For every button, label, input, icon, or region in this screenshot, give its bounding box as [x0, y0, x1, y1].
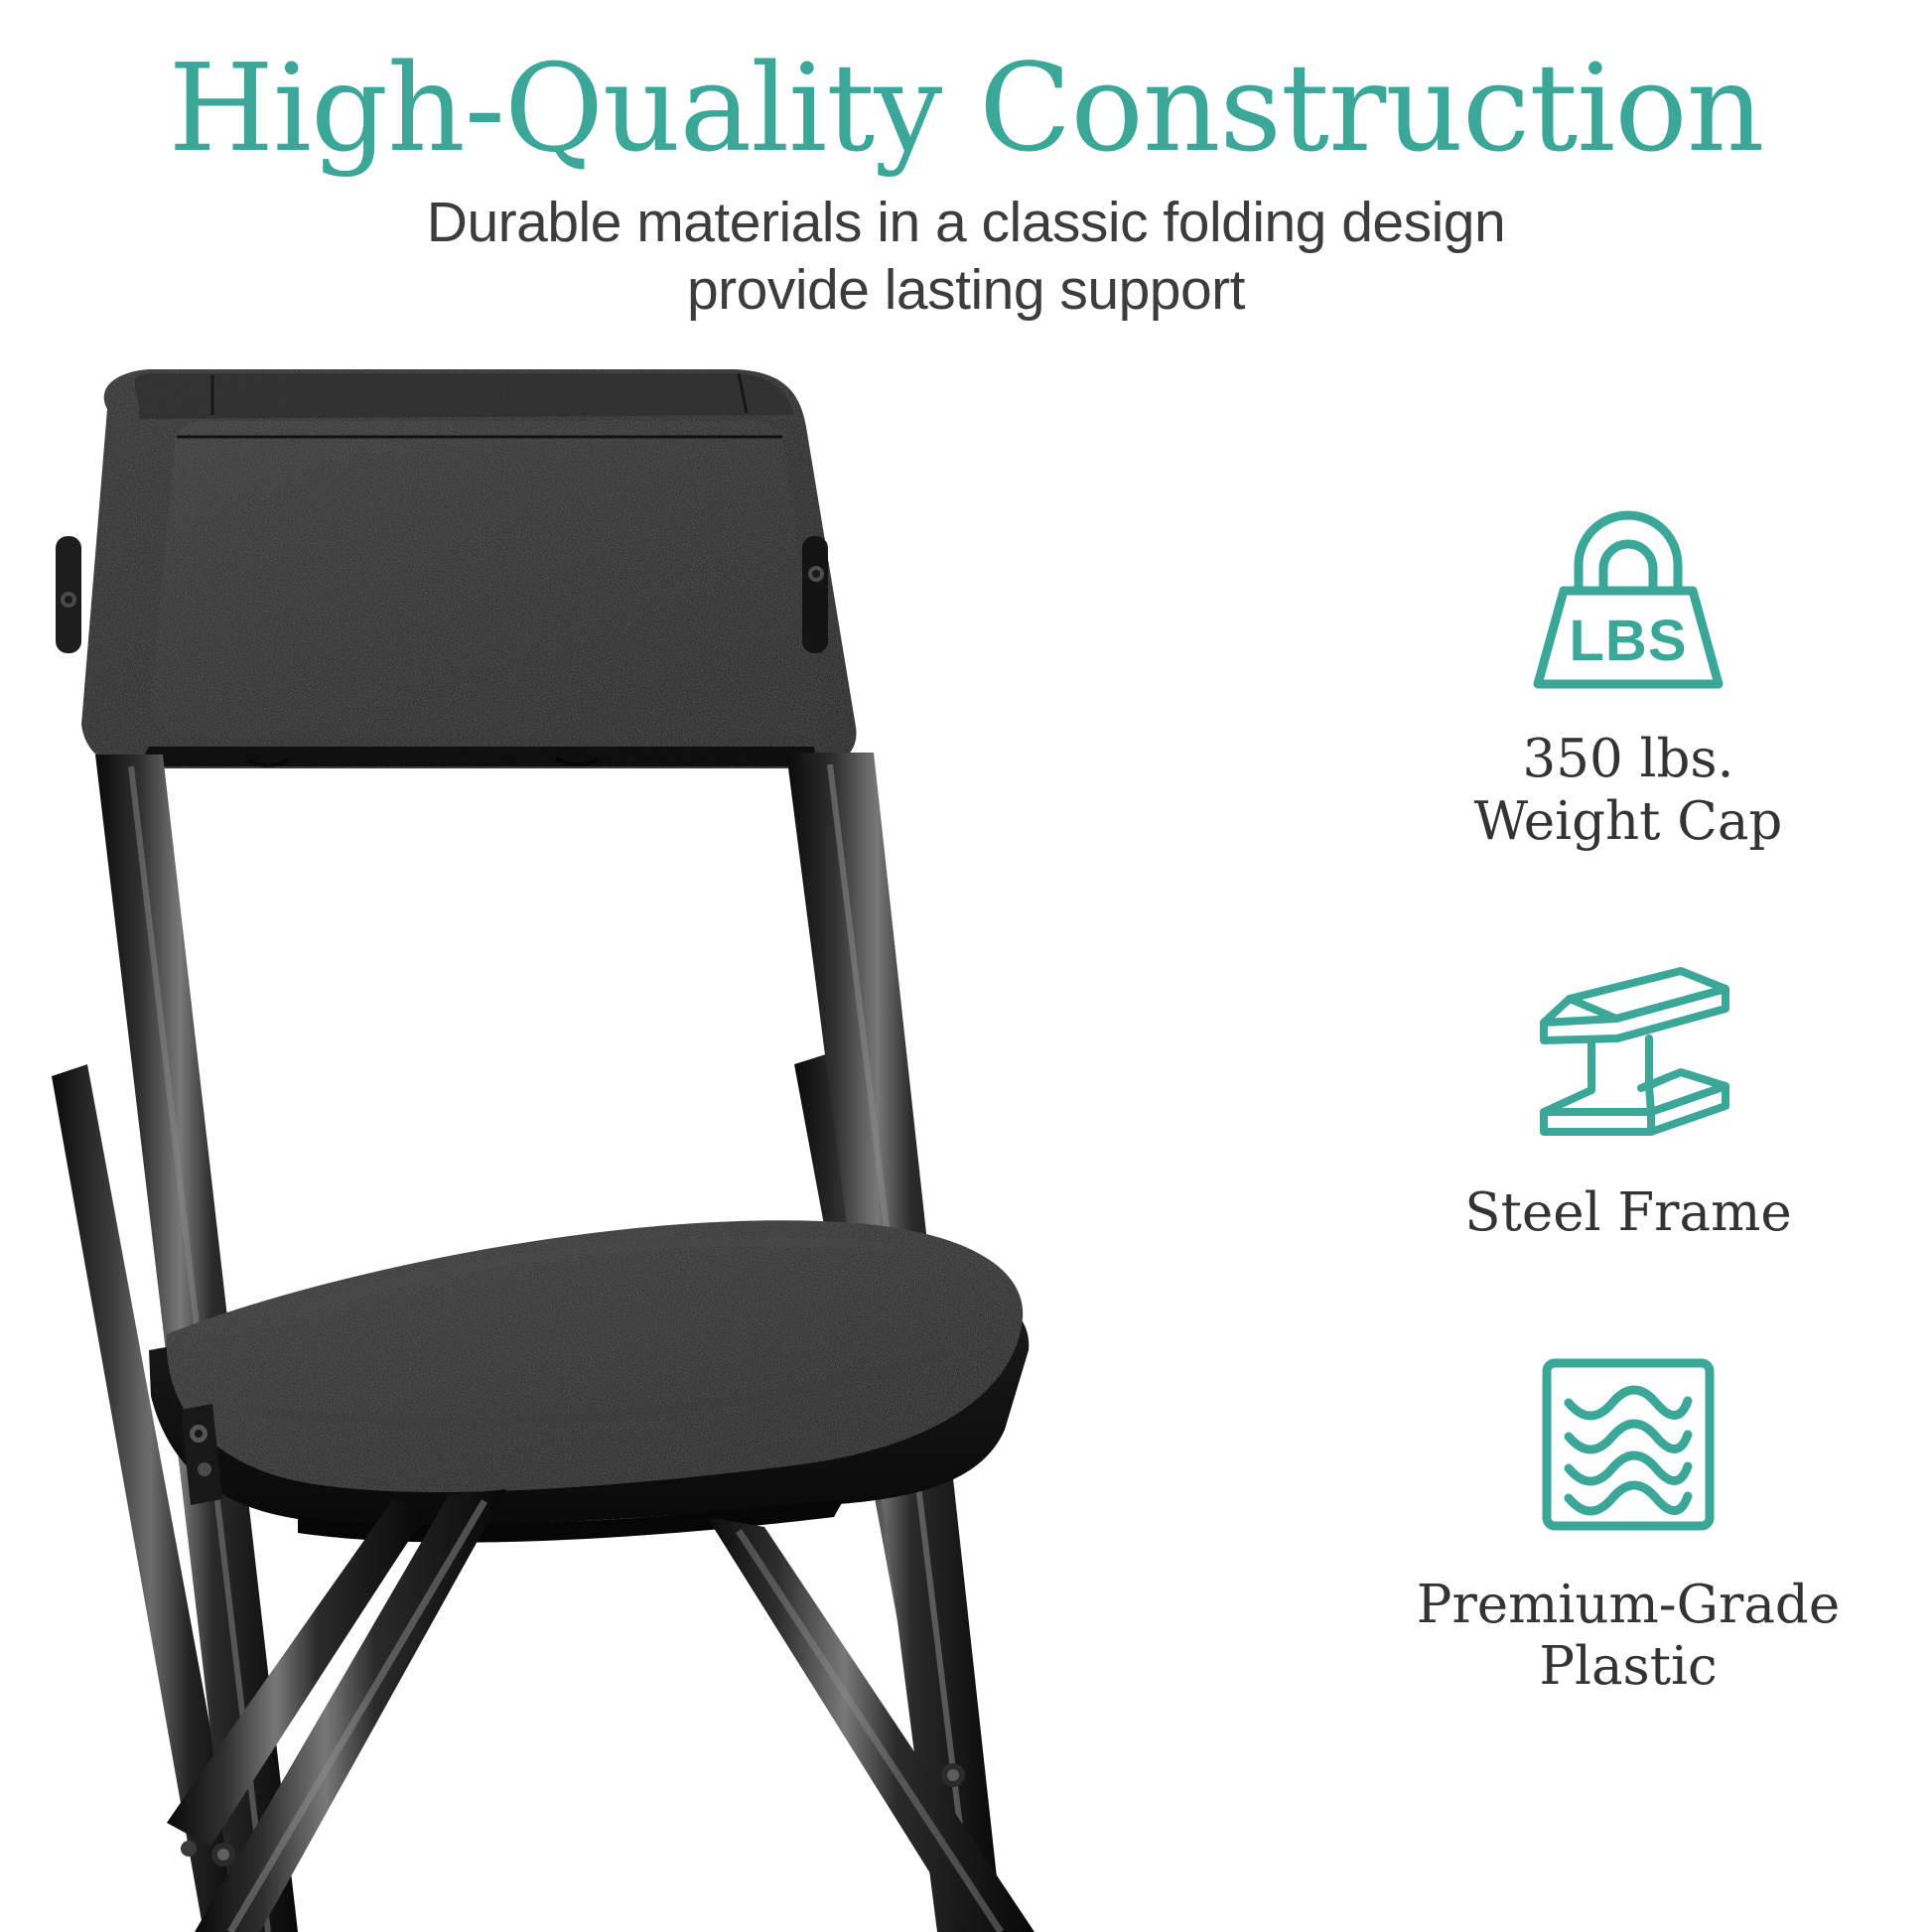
header-block: High-Quality Construction Durable materi…: [0, 0, 1932, 325]
feature-label-line-1: Premium-Grade: [1417, 1575, 1840, 1637]
feature-list: LBS 350 lbs. Weight Cap: [1390, 494, 1866, 1699]
page-title: High-Quality Construction: [0, 46, 1932, 172]
feature-label-weight-cap: 350 lbs. Weight Cap: [1474, 729, 1783, 853]
steel-i-beam-icon: [1514, 948, 1742, 1157]
feature-label-line-1: 350 lbs.: [1474, 729, 1783, 791]
chair-backrest: [81, 369, 857, 768]
weight-bag-icon-text: LBS: [1570, 609, 1688, 673]
feature-item-steel-frame: Steel Frame: [1390, 948, 1866, 1245]
subtitle-line-2: provide lasting support: [311, 257, 1621, 325]
subtitle: Durable materials in a classic folding d…: [311, 190, 1621, 325]
product-photo: [0, 357, 1241, 1932]
weight-bag-icon: LBS: [1514, 494, 1742, 703]
feature-label-steel-frame: Steel Frame: [1464, 1182, 1791, 1245]
feature-label-plastic: Premium-Grade Plastic: [1417, 1575, 1840, 1699]
feature-item-plastic: Premium-Grade Plastic: [1390, 1340, 1866, 1699]
subtitle-line-1: Durable materials in a classic folding d…: [311, 190, 1621, 257]
feature-label-line-2: Plastic: [1417, 1636, 1840, 1699]
chair-seat: [149, 1220, 1029, 1542]
feature-label-line-1: Steel Frame: [1464, 1182, 1791, 1245]
feature-label-line-2: Weight Cap: [1474, 791, 1783, 854]
plastic-waves-icon: [1514, 1340, 1742, 1549]
feature-item-weight-cap: LBS 350 lbs. Weight Cap: [1390, 494, 1866, 853]
